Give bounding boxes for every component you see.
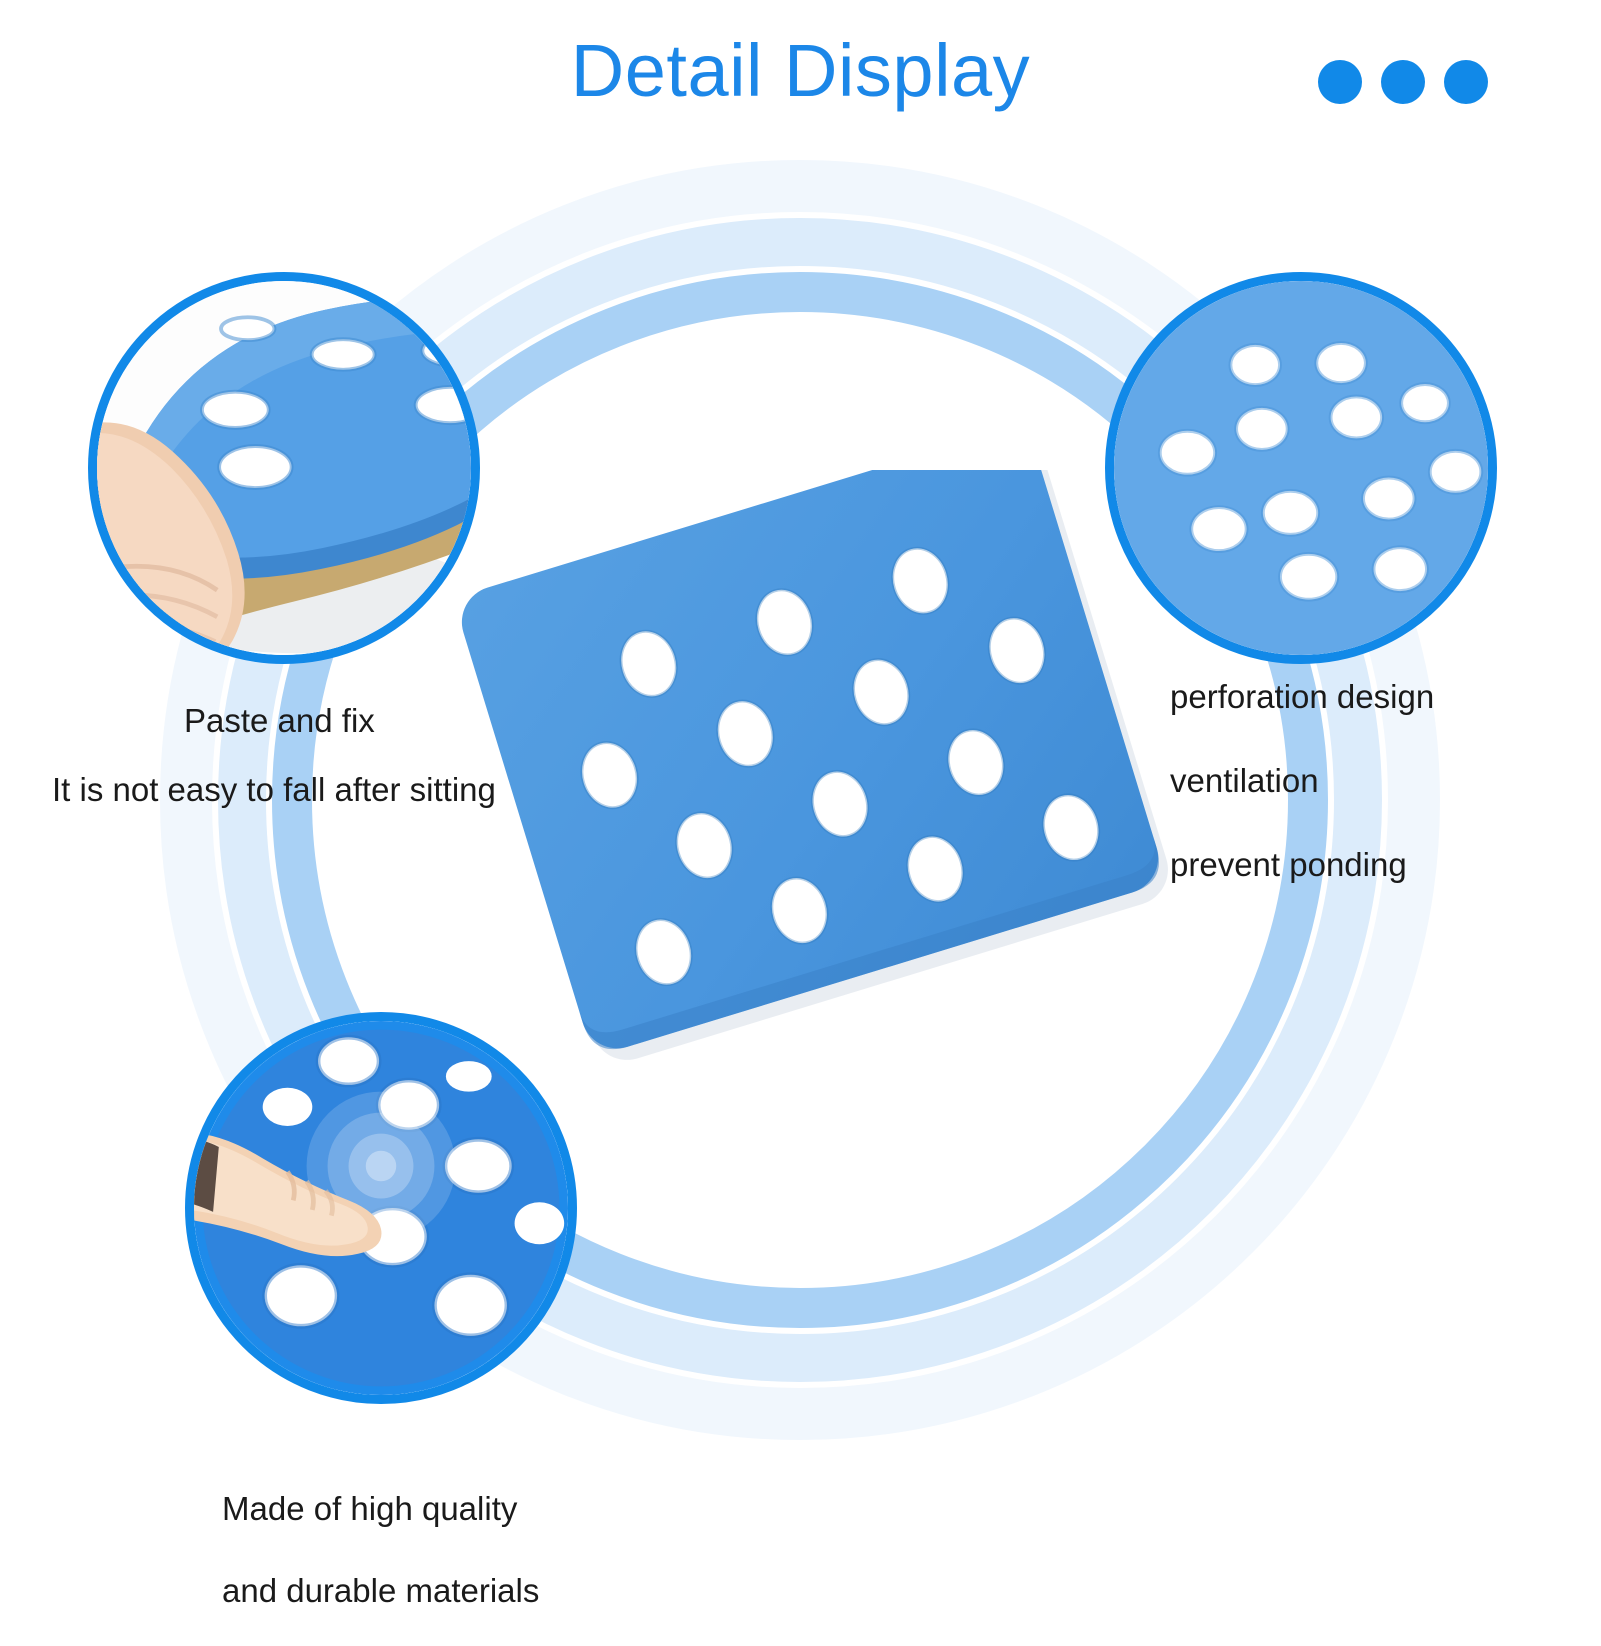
dot-icon-1 — [1318, 60, 1362, 104]
caption-paste-and-fix: Paste and fix It is not easy to fall aft… — [52, 694, 612, 816]
caption-left-line2: It is not easy to fall after sitting — [52, 763, 612, 816]
caption-perforation-design: perforation design ventilation prevent p… — [1170, 670, 1590, 922]
dot-icon-2 — [1381, 60, 1425, 104]
caption-left-line1: Paste and fix — [52, 694, 612, 747]
caption-bottom-line2: and durable materials — [222, 1564, 692, 1617]
caption-durable-materials: Made of high quality and durable materia… — [222, 1482, 692, 1646]
bubble-perforation-design — [1105, 272, 1497, 664]
caption-bottom-line1: Made of high quality — [222, 1482, 692, 1535]
bubble-durable-materials — [185, 1012, 577, 1404]
caption-right-line1: perforation design — [1170, 670, 1590, 723]
caption-right-line3: prevent ponding — [1170, 838, 1590, 891]
dot-icon-3 — [1444, 60, 1488, 104]
bubble-paste-and-fix — [88, 272, 480, 664]
header-dots-decoration — [1318, 60, 1488, 104]
header: Detail Display — [0, 0, 1601, 160]
caption-right-line2: ventilation — [1170, 754, 1590, 807]
